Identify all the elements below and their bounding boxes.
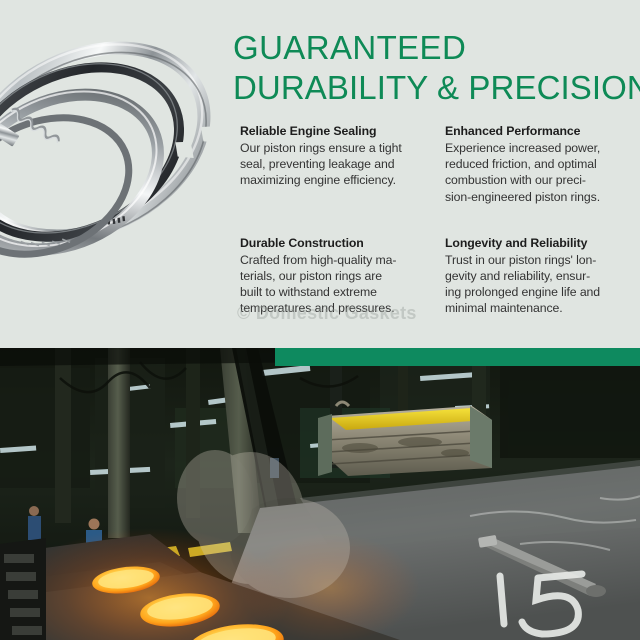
feature-body-line: Experience increased power, [445, 140, 628, 156]
feature-durable-construction: Durable Construction Crafted from high-q… [240, 236, 435, 317]
marketing-banner: GUARANTEED DURABILITY & PRECISION Reliab… [0, 0, 640, 640]
feature-body-line: reduced friction, and optimal [445, 156, 628, 172]
feature-body-line: Crafted from high-quality ma- [240, 252, 435, 268]
feature-longevity-and-reliability: Longevity and Reliability Trust in our p… [445, 236, 628, 317]
feature-body-line: terials, our piston rings are [240, 268, 435, 284]
feature-body-line: maximizing engine efficiency. [240, 172, 435, 188]
feature-enhanced-performance: Enhanced Performance Experience increase… [445, 124, 628, 205]
feature-title: Longevity and Reliability [445, 236, 628, 251]
page-title: GUARANTEED DURABILITY & PRECISION [233, 28, 633, 108]
foundry-floor-photo [0, 348, 640, 640]
headline-line-1: GUARANTEED [233, 28, 633, 68]
feature-title: Durable Construction [240, 236, 435, 251]
feature-reliable-engine-sealing: Reliable Engine Sealing Our piston rings… [240, 124, 435, 205]
feature-title: Enhanced Performance [445, 124, 628, 139]
feature-body-line: built to withstand extreme [240, 284, 435, 300]
feature-body-line: ing prolonged engine life and [445, 284, 628, 300]
feature-body-line: gevity and reliability, ensur- [445, 268, 628, 284]
headline-line-2: DURABILITY & PRECISION [233, 68, 633, 108]
feature-body-line: sion-engineered piston rings. [445, 189, 628, 205]
piston-rings-photo [0, 10, 240, 320]
feature-body-line: Trust in our piston rings' lon- [445, 252, 628, 268]
feature-grid: Reliable Engine Sealing Our piston rings… [240, 124, 628, 317]
feature-title: Reliable Engine Sealing [240, 124, 435, 139]
top-content-section: GUARANTEED DURABILITY & PRECISION Reliab… [0, 0, 640, 348]
feature-body: Trust in our piston rings' lon- gevity a… [445, 252, 628, 317]
feature-body: Experience increased power, reduced fric… [445, 140, 628, 205]
feature-body-line: seal, preventing leakage and [240, 156, 435, 172]
feature-body: Crafted from high-quality ma- terials, o… [240, 252, 435, 317]
feature-body-line: combustion with our preci- [445, 172, 628, 188]
feature-body-line: temperatures and pressures. [240, 300, 435, 316]
feature-body-line: Our piston rings ensure a tight [240, 140, 435, 156]
feature-body: Our piston rings ensure a tight seal, pr… [240, 140, 435, 189]
green-accent-bar [275, 348, 640, 366]
feature-body-line: minimal maintenance. [445, 300, 628, 316]
